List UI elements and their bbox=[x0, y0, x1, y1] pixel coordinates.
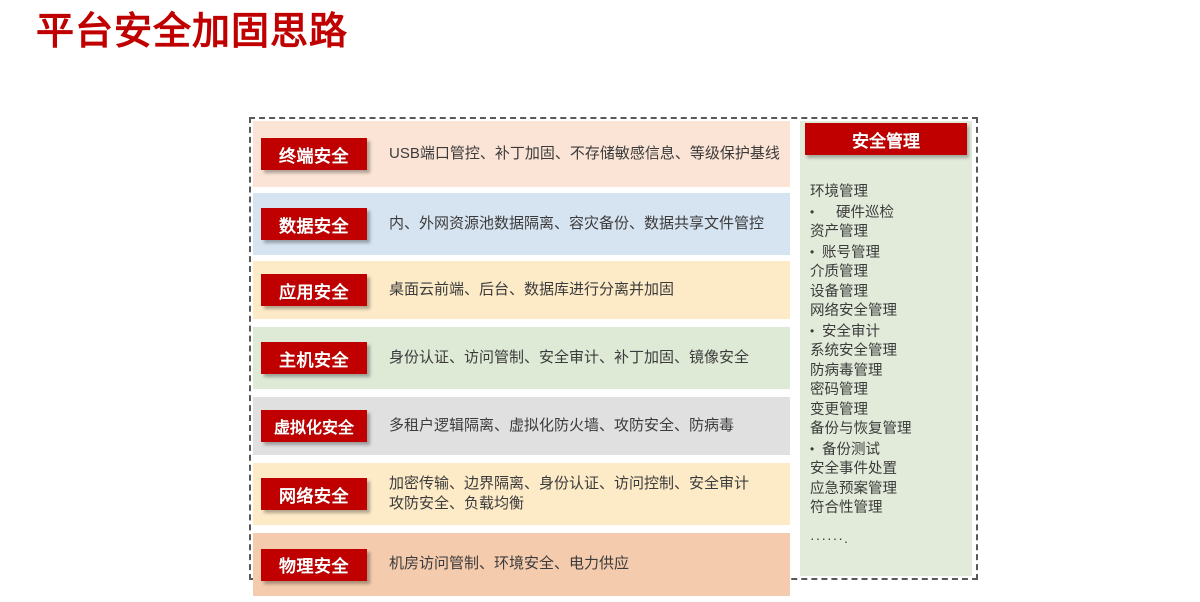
management-item[interactable]: 资产管理 bbox=[810, 223, 968, 243]
security-layer-row[interactable]: 应用安全桌面云前端、后台、数据库进行分离并加固 bbox=[253, 261, 790, 319]
management-item-label: 安全审计 bbox=[822, 324, 880, 340]
layer-description: USB端口管控、补丁加固、不存储敏感信息、等级保护基线 bbox=[389, 144, 790, 164]
management-item[interactable]: 备份与恢复管理 bbox=[810, 420, 968, 440]
layer-badge[interactable]: 应用安全 bbox=[261, 274, 367, 306]
layer-description: 内、外网资源池数据隔离、容灾备份、数据共享文件管控 bbox=[389, 214, 790, 234]
layer-divider bbox=[253, 389, 790, 397]
management-sub-item[interactable]: •安全审计 bbox=[810, 322, 968, 343]
layer-divider bbox=[253, 319, 790, 327]
layer-divider bbox=[253, 455, 790, 463]
management-item[interactable]: 符合性管理 bbox=[810, 499, 968, 519]
management-item[interactable]: 安全事件处置 bbox=[810, 460, 968, 480]
management-list-ellipsis: ······. bbox=[810, 529, 968, 549]
security-layer-row[interactable]: 网络安全加密传输、边界隔离、身份认证、访问控制、安全审计 攻防安全、负载均衡 bbox=[253, 463, 790, 525]
management-sub-item[interactable]: •账号管理 bbox=[810, 243, 968, 264]
management-sub-item[interactable]: •备份测试 bbox=[810, 440, 968, 461]
layer-description: 加密传输、边界隔离、身份认证、访问控制、安全审计 攻防安全、负载均衡 bbox=[389, 474, 790, 515]
security-layer-row[interactable]: 主机安全身份认证、访问管制、安全审计、补丁加固、镜像安全 bbox=[253, 327, 790, 389]
bullet-icon: • bbox=[810, 203, 836, 223]
management-item[interactable]: 网络安全管理 bbox=[810, 302, 968, 322]
security-layer-row[interactable]: 终端安全USB端口管控、补丁加固、不存储敏感信息、等级保护基线 bbox=[253, 121, 790, 187]
bullet-icon: • bbox=[810, 440, 822, 460]
security-layer-row[interactable]: 虚拟化安全多租户逻辑隔离、虚拟化防火墙、攻防安全、防病毒 bbox=[253, 397, 790, 455]
management-item[interactable]: 环境管理 bbox=[810, 183, 968, 203]
management-item[interactable]: 设备管理 bbox=[810, 283, 968, 303]
bullet-icon: • bbox=[810, 243, 822, 263]
layer-badge[interactable]: 虚拟化安全 bbox=[261, 410, 367, 442]
management-item[interactable]: 密码管理 bbox=[810, 381, 968, 401]
management-item-label: 账号管理 bbox=[822, 245, 880, 261]
layer-description: 多租户逻辑隔离、虚拟化防火墙、攻防安全、防病毒 bbox=[389, 416, 790, 436]
management-item[interactable]: 应急预案管理 bbox=[810, 480, 968, 500]
layer-badge[interactable]: 物理安全 bbox=[261, 549, 367, 581]
layer-badge[interactable]: 主机安全 bbox=[261, 342, 367, 374]
management-sub-item[interactable]: •硬件巡检 bbox=[810, 203, 968, 224]
layer-badge[interactable]: 数据安全 bbox=[261, 208, 367, 240]
management-item-label: 备份测试 bbox=[822, 442, 880, 458]
layer-description: 身份认证、访问管制、安全审计、补丁加固、镜像安全 bbox=[389, 348, 790, 368]
management-item-label: 硬件巡检 bbox=[836, 205, 894, 221]
security-management-list: 环境管理•硬件巡检资产管理•账号管理介质管理设备管理网络安全管理•安全审计系统安… bbox=[810, 183, 968, 548]
bullet-icon: • bbox=[810, 322, 822, 342]
management-item[interactable]: 系统安全管理 bbox=[810, 342, 968, 362]
layer-description: 桌面云前端、后台、数据库进行分离并加固 bbox=[389, 280, 790, 300]
security-layer-row[interactable]: 数据安全内、外网资源池数据隔离、容灾备份、数据共享文件管控 bbox=[253, 193, 790, 255]
security-layer-row[interactable]: 物理安全机房访问管制、环境安全、电力供应 bbox=[253, 533, 790, 596]
layer-divider bbox=[253, 525, 790, 533]
management-item[interactable]: 防病毒管理 bbox=[810, 362, 968, 382]
security-management-header: 安全管理 bbox=[805, 123, 967, 155]
layer-badge[interactable]: 网络安全 bbox=[261, 478, 367, 510]
page-title: 平台安全加固思路 bbox=[36, 10, 348, 56]
layer-description: 机房访问管制、环境安全、电力供应 bbox=[389, 554, 790, 574]
management-item[interactable]: 介质管理 bbox=[810, 263, 968, 283]
security-layer-stack: 终端安全USB端口管控、补丁加固、不存储敏感信息、等级保护基线数据安全内、外网资… bbox=[253, 121, 790, 576]
security-management-panel: 安全管理 环境管理•硬件巡检资产管理•账号管理介质管理设备管理网络安全管理•安全… bbox=[800, 121, 972, 576]
management-item[interactable]: 变更管理 bbox=[810, 401, 968, 421]
layer-badge[interactable]: 终端安全 bbox=[261, 138, 367, 170]
